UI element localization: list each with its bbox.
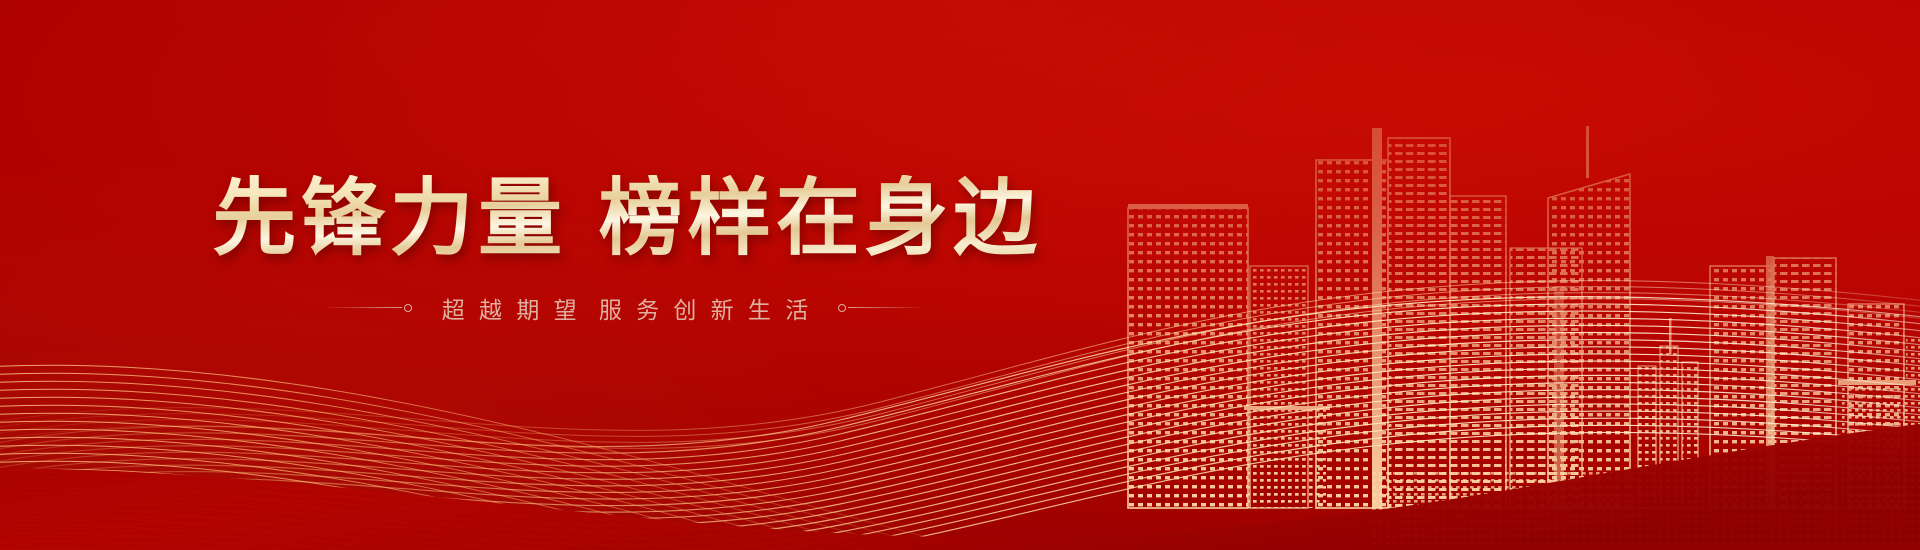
rule-right-line-icon (848, 307, 922, 308)
banner-headline: 先锋力量榜样在身边 (212, 175, 1042, 264)
subtitle-part-2: 服务创新生活 (599, 297, 823, 323)
banner-subtitle: 超越期望服务创新生活 (428, 291, 823, 325)
subtitle-part-1: 超越期望 (442, 297, 591, 323)
banner-subline: 超越期望服务创新生活 (328, 291, 923, 325)
headline-part-2: 榜样在身边 (599, 173, 1042, 266)
rule-left-decoration (328, 304, 412, 312)
rule-left-line-icon (328, 307, 402, 308)
rule-left-circle-icon (404, 304, 412, 312)
rule-right-circle-icon (838, 304, 846, 312)
promo-banner: 先锋力量榜样在身边 超越期望服务创新生活 (0, 0, 1920, 550)
banner-content: 先锋力量榜样在身边 超越期望服务创新生活 (0, 0, 1240, 550)
headline-part-1: 先锋力量 (212, 173, 566, 266)
rule-right-decoration (838, 304, 922, 312)
